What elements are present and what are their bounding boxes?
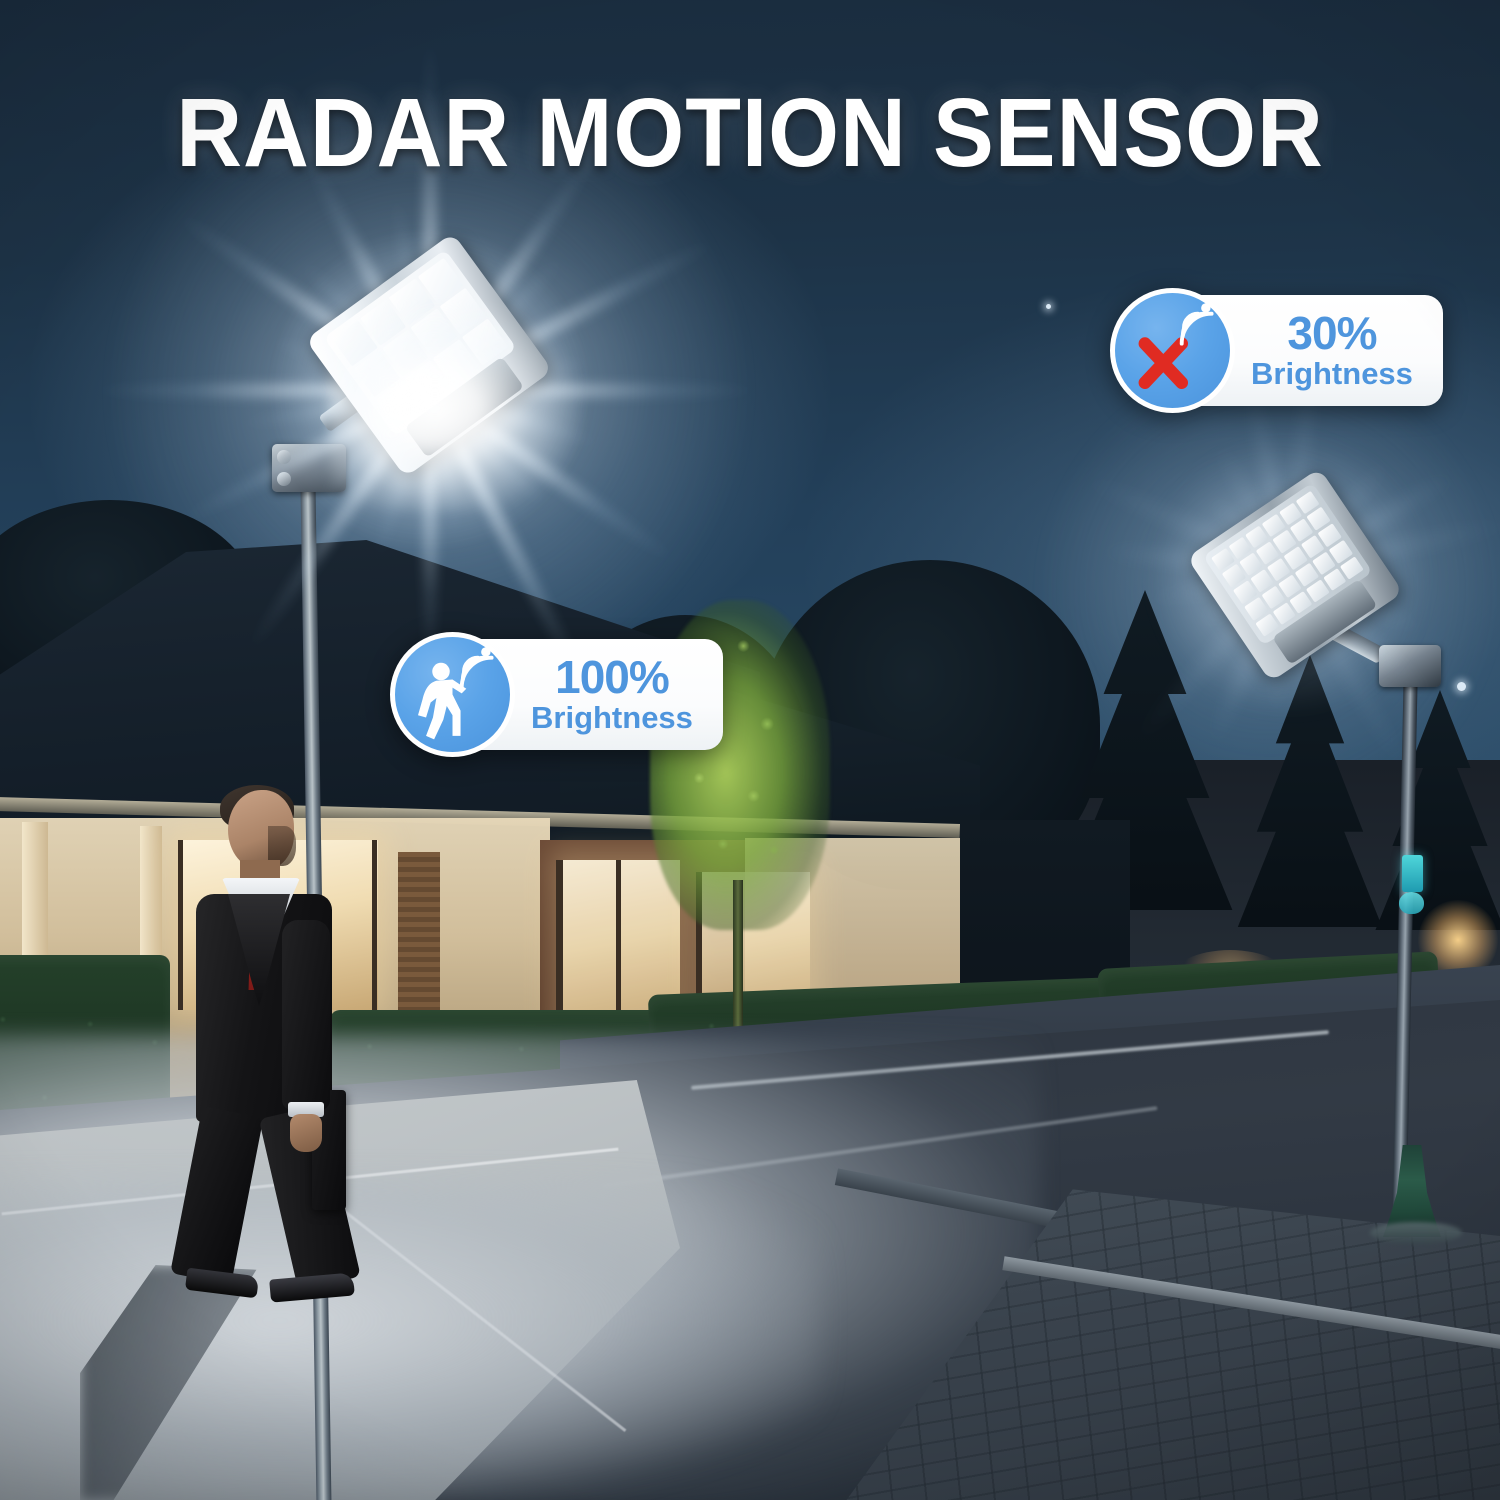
badge-percent: 100% — [555, 654, 669, 700]
man-back-leg — [170, 1106, 263, 1285]
pole-sign-lower — [1399, 892, 1424, 914]
badge-sublabel: Brightness — [1251, 357, 1413, 392]
page-title: RADAR MOTION SENSOR — [45, 84, 1455, 183]
pole-sign-upper — [1402, 855, 1423, 892]
badge-percent: 30% — [1287, 310, 1376, 356]
man-front-shoe — [269, 1272, 355, 1302]
product-marketing-image: RADAR MOTION SENSOR 100% Brightness — [0, 0, 1500, 1500]
left-lamp-blowout — [330, 300, 580, 510]
man-hand — [290, 1114, 322, 1152]
man-back-shoe — [185, 1268, 259, 1299]
badge-dim-brightness: 30% Brightness — [1110, 288, 1443, 413]
man-arm — [282, 920, 330, 1110]
star-speck — [1457, 682, 1466, 691]
pedestrian-radar-icon — [390, 632, 515, 757]
man-walking — [170, 790, 400, 1300]
star-speck — [1046, 304, 1051, 309]
badge-full-brightness: 100% Brightness — [390, 632, 723, 757]
no-motion-radar-icon — [1110, 288, 1235, 413]
badge-sublabel: Brightness — [531, 701, 693, 736]
right-lamp-base-plate — [1370, 1222, 1462, 1244]
